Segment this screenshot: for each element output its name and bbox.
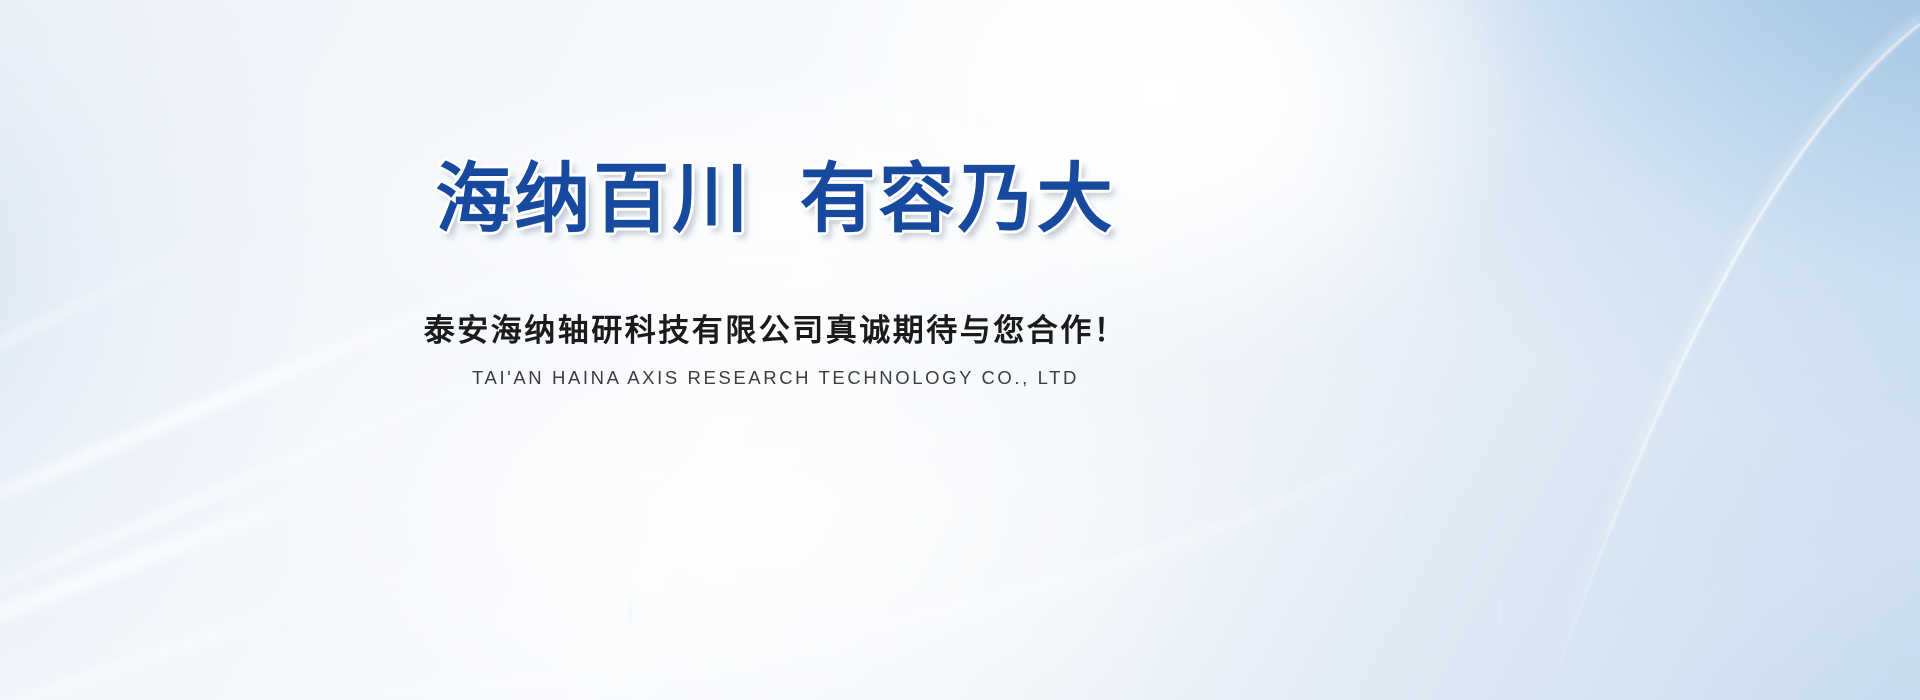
arc-top-right (1548, 24, 1920, 700)
hero-banner: 海纳百川 有容乃大 泰安海纳轴研科技有限公司真诚期待与您合作！ TAI'AN H… (0, 0, 1920, 700)
banner-text-block: 海纳百川 有容乃大 泰安海纳轴研科技有限公司真诚期待与您合作！ TAI'AN H… (0, 0, 1551, 700)
banner-subtitle-english: TAI'AN HAINA AXIS RESEARCH TECHNOLOGY CO… (472, 367, 1079, 389)
banner-subtitle-chinese: 泰安海纳轴研科技有限公司真诚期待与您合作！ (424, 305, 1128, 350)
arc-top-right-halo (1540, 18, 1920, 700)
banner-headline: 海纳百川 有容乃大 (435, 160, 1115, 239)
